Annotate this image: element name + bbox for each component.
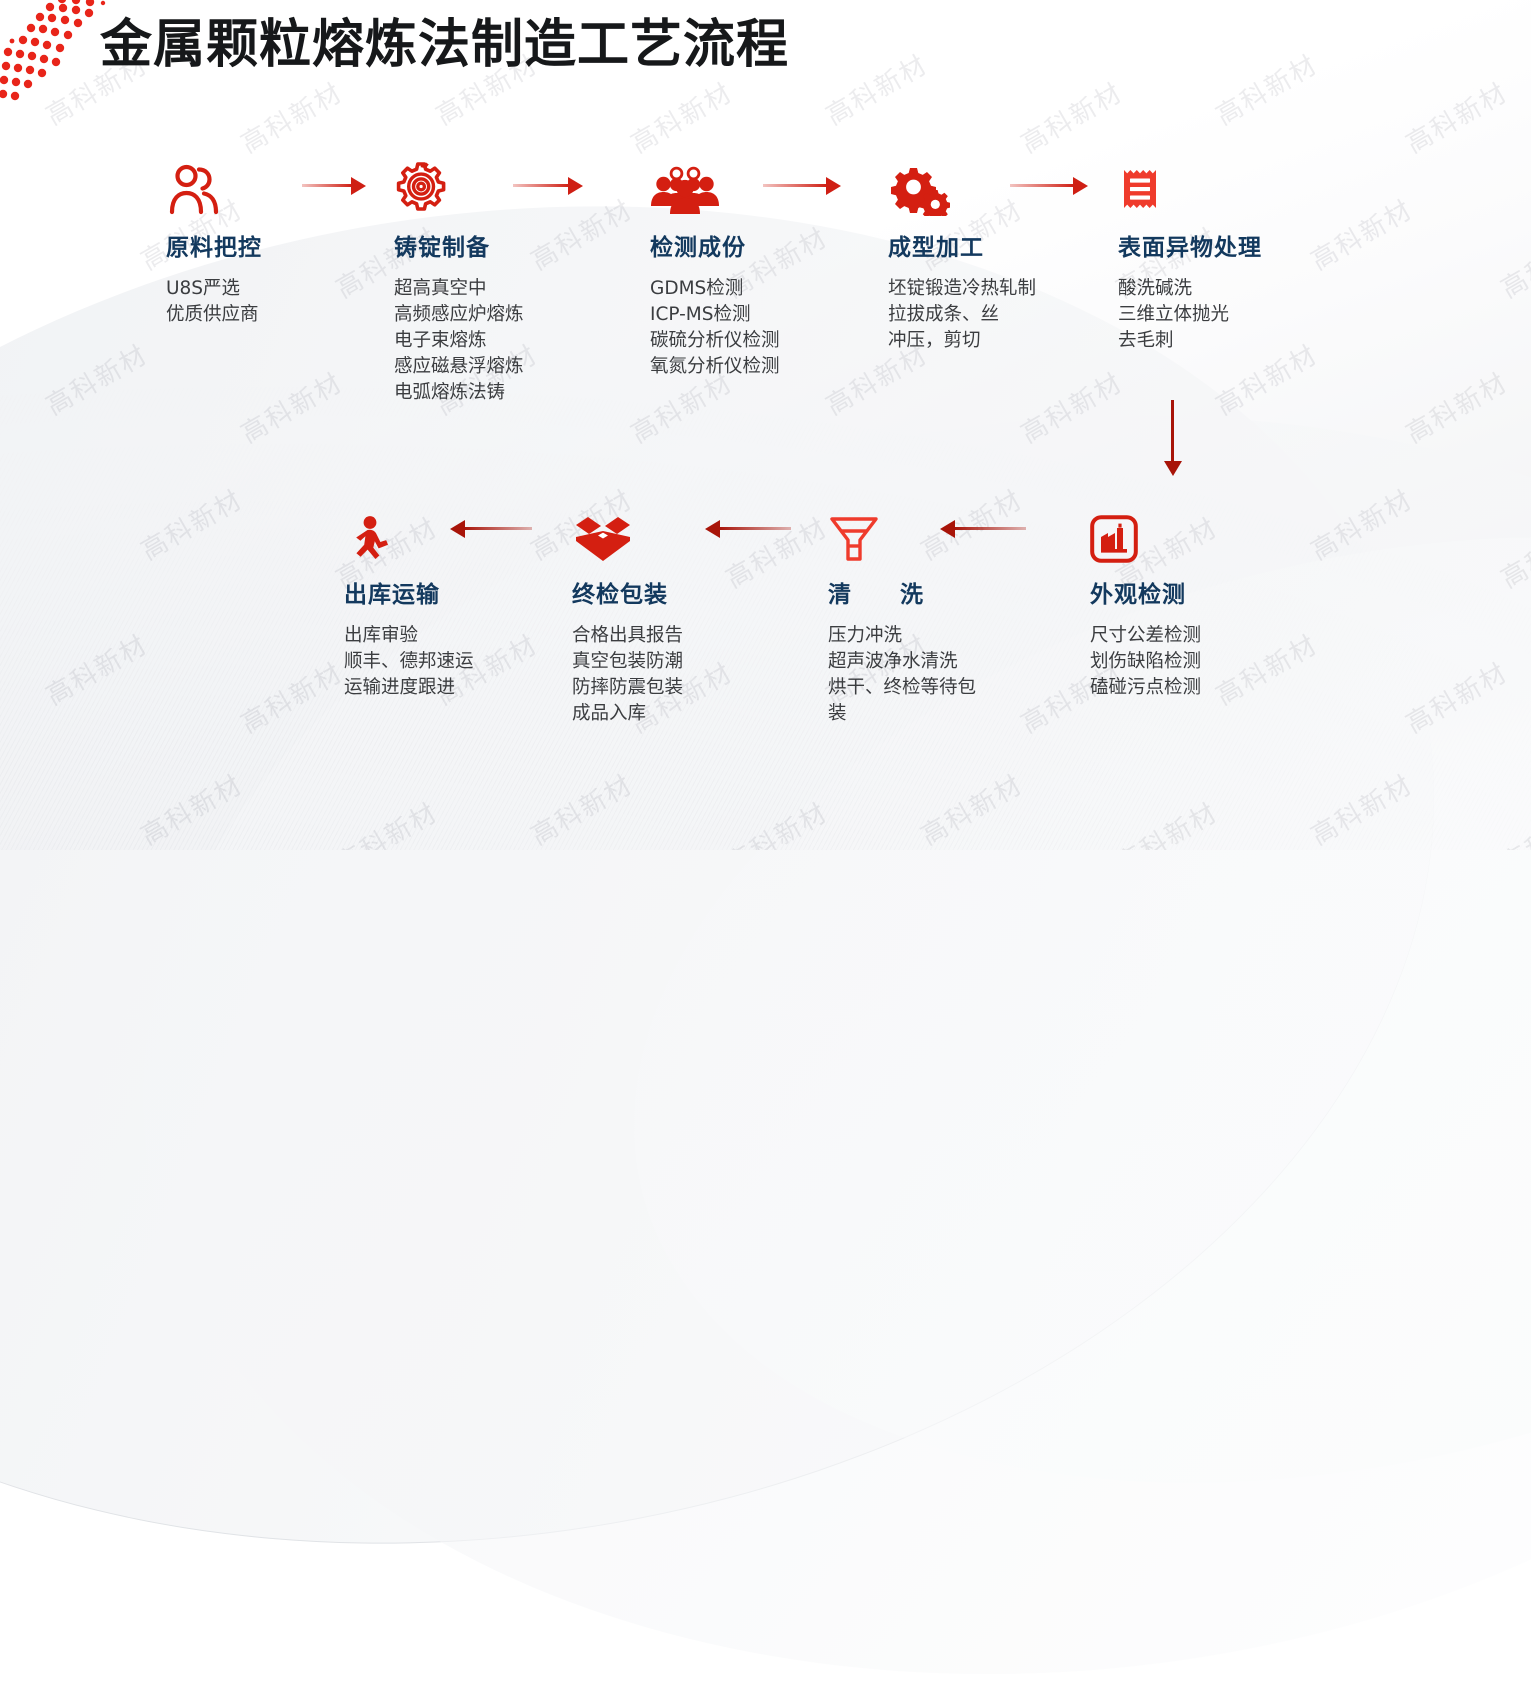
step-detail-lines: 坯锭锻造冷热轧制 拉拔成条、丝 冲压，剪切 [888,276,1036,354]
step-detail-line: 电子束熔炼 [394,328,524,354]
step-detail-lines: 出库审验 顺丰、德邦速运 运输进度跟进 [344,623,474,701]
arrow-shaft [1010,184,1074,187]
step-title: 清 洗 [828,575,986,609]
step-detail-line: 运输进度跟进 [344,675,474,701]
step-detail-line: 氧氮分析仪检测 [650,354,780,380]
people-group-icon [650,158,780,216]
receipt-icon [1118,158,1262,216]
arrow-shaft [719,527,791,530]
gear-target-icon [394,158,524,216]
arrow-head [826,177,841,195]
flow-step-outbound-transport[interactable]: 出库运输 出库审验 顺丰、德邦速运 运输进度跟进 [344,505,474,701]
arrow-step5-to-step6 [1164,400,1182,476]
factory-inspection-icon [1090,505,1201,563]
step-detail-line: 顺丰、德邦速运 [344,649,474,675]
step-detail-lines: 超高真空中 高频感应炉熔炼 电子束熔炼 感应磁悬浮熔炼 电弧熔炼法铸 [394,276,524,406]
arrow-head [705,520,720,538]
flow-step-composition-inspection[interactable]: 检测成份 GDMS检测 ICP-MS检测 碳硫分析仪检测 氧氮分析仪检测 [650,158,780,380]
step-detail-line: 压力冲洗 [828,623,986,649]
step-detail-line: 感应磁悬浮熔炼 [394,354,524,380]
funnel-icon [828,505,986,563]
flow-step-appearance-inspection[interactable]: 外观检测 尺寸公差检测 划伤缺陷检测 磕碰污点检测 [1090,505,1201,701]
step-detail-line: 划伤缺陷检测 [1090,649,1201,675]
step-detail-line: 烘干、终检等待包装 [828,675,986,727]
step-title: 出库运输 [344,575,474,609]
step-detail-line: 电弧熔炼法铸 [394,380,524,406]
step-detail-lines: GDMS检测 ICP-MS检测 碳硫分析仪检测 氧氮分析仪检测 [650,276,780,380]
step-detail-line: 防摔防震包装 [572,675,683,701]
arrow-shaft [464,527,532,530]
arrow-head [1073,177,1088,195]
step-detail-lines: 合格出具报告 真空包装防潮 防摔防震包装 成品入库 [572,623,683,727]
open-box-icon [572,505,683,563]
step-title: 检测成份 [650,228,780,262]
step-detail-line: 酸洗碱洗 [1118,276,1262,302]
arrow-step3-to-step4 [763,177,841,195]
flow-step-final-inspection-packaging[interactable]: 终检包装 合格出具报告 真空包装防潮 防摔防震包装 成品入库 [572,505,683,727]
walking-person-icon [344,505,474,563]
step-detail-line: 成品入库 [572,701,683,727]
step-detail-line: 高频感应炉熔炼 [394,302,524,328]
step-detail-line: 超声波净水清洗 [828,649,986,675]
process-flow-diagram: 原料把控 U8S严选 优质供应商 铸锭制备 超高真空中 高频感应炉 [0,0,1531,850]
step-detail-line: U8S严选 [166,276,262,302]
arrow-head [351,177,366,195]
arrow-step1-to-step2 [302,177,366,195]
step-title: 原料把控 [166,228,262,262]
arrow-shaft [763,184,827,187]
arrow-head [568,177,583,195]
step-detail-line: 冲压，剪切 [888,328,1036,354]
step-detail-line: 去毛刺 [1118,328,1262,354]
step-title: 铸锭制备 [394,228,524,262]
flow-step-ingot-preparation[interactable]: 铸锭制备 超高真空中 高频感应炉熔炼 电子束熔炼 感应磁悬浮熔炼 电弧熔炼法铸 [394,158,524,406]
step-detail-line: 合格出具报告 [572,623,683,649]
step-detail-line: 真空包装防潮 [572,649,683,675]
arrow-step4-to-step5 [1010,177,1088,195]
step-detail-line: 尺寸公差检测 [1090,623,1201,649]
step-detail-line: GDMS检测 [650,276,780,302]
step-detail-line: 三维立体抛光 [1118,302,1262,328]
step-detail-lines: 压力冲洗 超声波净水清洗 烘干、终检等待包装 [828,623,986,727]
step-detail-line: 坯锭锻造冷热轧制 [888,276,1036,302]
flow-step-cleaning[interactable]: 清 洗 压力冲洗 超声波净水清洗 烘干、终检等待包装 [828,505,986,727]
two-people-icon [166,158,262,216]
flow-step-surface-foreign-matter-treatment[interactable]: 表面异物处理 酸洗碱洗 三维立体抛光 去毛刺 [1118,158,1262,354]
arrow-shaft [1171,400,1174,462]
arrow-shaft [513,184,569,187]
step-detail-lines: 酸洗碱洗 三维立体抛光 去毛刺 [1118,276,1262,354]
step-detail-line: 碳硫分析仪检测 [650,328,780,354]
step-detail-lines: U8S严选 优质供应商 [166,276,262,328]
step-title: 终检包装 [572,575,683,609]
arrow-step7-to-step8 [705,520,791,538]
step-title: 表面异物处理 [1118,228,1262,262]
arrow-head [1164,461,1182,476]
step-title: 外观检测 [1090,575,1201,609]
step-detail-line: 拉拔成条、丝 [888,302,1036,328]
step-detail-line: 超高真空中 [394,276,524,302]
step-detail-lines: 尺寸公差检测 划伤缺陷检测 磕碰污点检测 [1090,623,1201,701]
step-detail-line: 出库审验 [344,623,474,649]
arrow-shaft [302,184,352,187]
step-detail-line: 磕碰污点检测 [1090,675,1201,701]
step-detail-line: 优质供应商 [166,302,262,328]
step-title: 成型加工 [888,228,1036,262]
flow-step-original-material-control[interactable]: 原料把控 U8S严选 优质供应商 [166,158,262,328]
step-detail-line: ICP-MS检测 [650,302,780,328]
arrow-step2-to-step3 [513,177,583,195]
